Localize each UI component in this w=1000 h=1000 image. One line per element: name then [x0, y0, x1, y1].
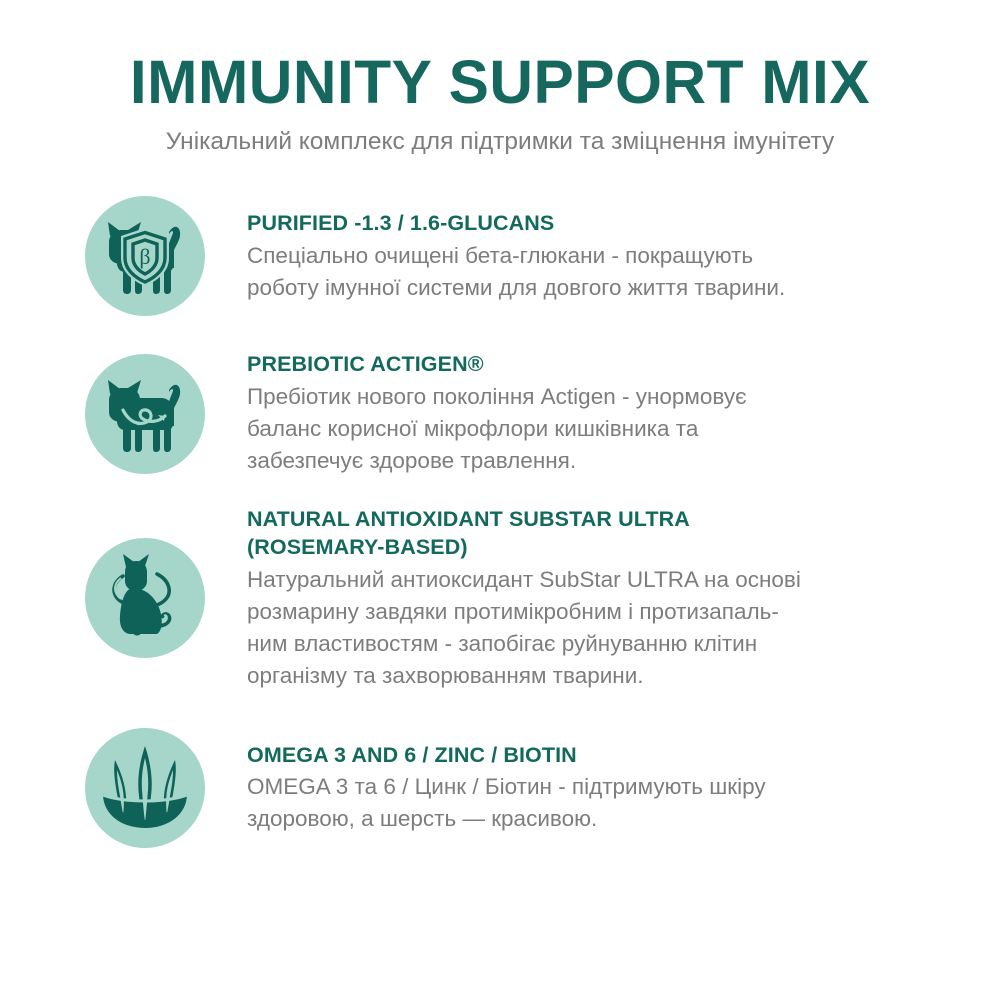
cat-protective-orbit-icon	[85, 538, 205, 658]
feature-item-prebiotic: PREBIOTIC ACTIGEN® Пребіотик нового поко…	[0, 350, 940, 476]
hair-follicle-skin-icon	[85, 728, 205, 848]
page-header: IMMUNITY SUPPORT MIX Унікальний комплекс…	[0, 0, 1000, 156]
feature-body: Спеціально очищені бета-глюкани - покращ…	[247, 240, 785, 304]
cat-shield-beta-icon: β	[85, 196, 205, 316]
feature-list: β PURIFIED -1.3 / 1.6-GLUCANS Спеціально…	[0, 196, 1000, 847]
infographic-page: IMMUNITY SUPPORT MIX Унікальний комплекс…	[0, 0, 1000, 1000]
feature-text-prebiotic: PREBIOTIC ACTIGEN® Пребіотик нового поко…	[247, 350, 747, 476]
feature-text-glucans: PURIFIED -1.3 / 1.6-GLUCANS Спеціально о…	[247, 209, 785, 303]
feature-body: OMEGA 3 та 6 / Цинк / Біотин - підтримую…	[247, 771, 766, 835]
feature-heading: OMEGA 3 AND 6 / ZINC / BIOTIN	[247, 741, 766, 770]
page-subtitle: Унікальний комплекс для підтримки та змі…	[0, 127, 1000, 156]
svg-text:β: β	[139, 244, 150, 269]
feature-body: Пребіотик нового покоління Actigen - уно…	[247, 381, 747, 477]
feature-item-antioxidant: NATURAL ANTIOXIDANT SUBSTAR ULTRA (ROSEM…	[0, 505, 940, 692]
feature-heading: NATURAL ANTIOXIDANT SUBSTAR ULTRA (ROSEM…	[247, 505, 801, 562]
feature-text-antioxidant: NATURAL ANTIOXIDANT SUBSTAR ULTRA (ROSEM…	[247, 505, 801, 692]
feature-item-glucans: β PURIFIED -1.3 / 1.6-GLUCANS Спеціально…	[0, 196, 940, 316]
page-title: IMMUNITY SUPPORT MIX	[5, 52, 995, 113]
feature-text-omega: OMEGA 3 AND 6 / ZINC / BIOTIN OMEGA 3 та…	[247, 741, 766, 835]
feature-heading: PREBIOTIC ACTIGEN®	[247, 350, 747, 379]
feature-heading: PURIFIED -1.3 / 1.6-GLUCANS	[247, 209, 785, 238]
feature-body: Натуральний антиоксидант SubStar ULTRA н…	[247, 564, 801, 692]
feature-item-omega: OMEGA 3 AND 6 / ZINC / BIOTIN OMEGA 3 та…	[0, 728, 940, 848]
cat-digestive-loop-icon	[85, 354, 205, 474]
